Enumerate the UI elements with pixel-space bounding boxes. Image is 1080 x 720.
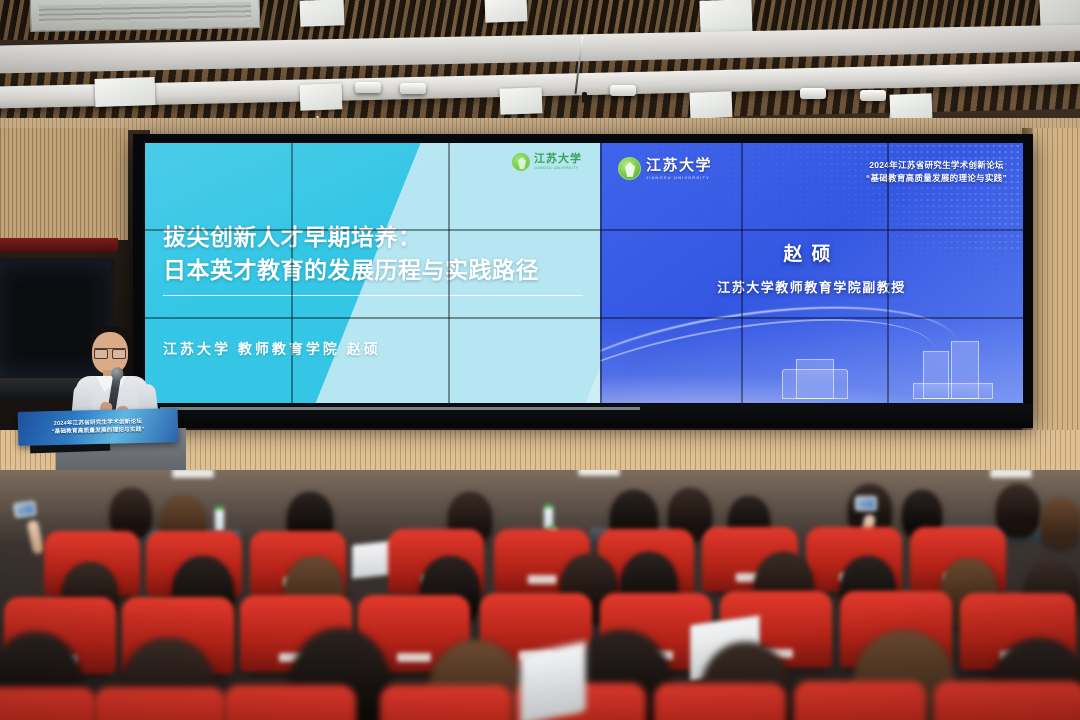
video-wall[interactable]: 江苏大学 JIANGSU UNIVERSITY 拔尖创新人才早期培养： 日本英才… xyxy=(145,143,1023,403)
university-emblem-icon xyxy=(618,157,641,180)
ceiling-light-panel xyxy=(690,91,733,118)
slide-speaker-panel: 江苏大学 JIANGSU UNIVERSITY 2024年江苏省研究生学术创新论… xyxy=(600,143,1023,403)
smartphone xyxy=(13,501,37,519)
auditorium-seat xyxy=(660,688,780,720)
ceiling-spotlight xyxy=(355,82,381,93)
auditorium-seat xyxy=(0,692,90,720)
auditorium-seat xyxy=(230,690,350,720)
hanging-microphone xyxy=(582,92,587,103)
ceiling-light-panel xyxy=(890,93,933,120)
ceiling-light-panel xyxy=(300,83,343,110)
auditorium-seat xyxy=(940,686,1080,720)
seat-number-tag xyxy=(397,653,431,662)
video-wall-bezel-v xyxy=(741,143,743,403)
podium-banner: 2024年江苏省研究生学术创新论坛 “基础教育高质量发展的理论与实践” xyxy=(18,408,179,446)
raised-arm xyxy=(27,519,45,555)
skyline-base xyxy=(913,383,993,399)
video-wall-bezel-v xyxy=(600,143,602,403)
slide-title-line2: 日本英才教育的发展历程与实践路径 xyxy=(163,254,539,287)
speaker-role: 江苏大学教师教育学院副教授 xyxy=(600,277,1023,296)
slide-title-line1: 拔尖创新人才早期培养： xyxy=(163,221,539,254)
audience-head xyxy=(996,484,1040,538)
video-wall-bezel-h xyxy=(145,229,1023,231)
logo-sub-text: JIANGSU UNIVERSITY xyxy=(534,167,582,170)
ceiling-spotlight xyxy=(800,88,826,99)
slide-title-panel: 江苏大学 JIANGSU UNIVERSITY 拔尖创新人才早期培养： 日本英才… xyxy=(145,143,600,403)
video-wall-bezel-v xyxy=(448,143,450,403)
video-wall-bezel-h xyxy=(145,317,1023,319)
slide-skyline-graphic xyxy=(600,317,1023,403)
jiangsu-university-logo-right: 江苏大学 JIANGSU UNIVERSITY xyxy=(618,157,712,180)
ceiling-light-panel xyxy=(300,0,345,27)
wall-outlet-plate xyxy=(990,470,1032,478)
lecture-hall-photo: 江苏大学 JIANGSU UNIVERSITY 拔尖创新人才早期培养： 日本英才… xyxy=(0,0,1080,720)
auditorium-seat xyxy=(100,692,220,720)
slide-title-divider xyxy=(163,295,583,296)
smartphone xyxy=(855,496,877,511)
jiangsu-university-logo-left: 江苏大学 JIANGSU UNIVERSITY xyxy=(512,153,582,171)
wall-outlet-plate xyxy=(578,470,620,476)
university-emblem-icon xyxy=(512,153,530,171)
video-wall-bezel-v xyxy=(291,143,293,403)
logo-sub-text: JIANGSU UNIVERSITY xyxy=(646,176,712,180)
audience-area xyxy=(0,470,1080,720)
seat-number-tag xyxy=(528,575,557,584)
audience-head xyxy=(1040,498,1080,548)
ceiling-spotlight xyxy=(610,85,636,96)
video-wall-bezel-v xyxy=(887,143,889,403)
speaker-name: 赵硕 xyxy=(600,239,1023,266)
water-bottle xyxy=(215,506,224,532)
logo-name-text: 江苏大学 xyxy=(646,158,712,173)
auditorium-seat xyxy=(800,686,920,720)
back-wall-wood-left xyxy=(0,128,128,240)
logo-name-text: 江苏大学 xyxy=(534,154,582,165)
notebook-paper xyxy=(520,641,586,720)
podium-banner-line2: “基础教育高质量发展的理论与实践” xyxy=(52,426,145,437)
video-wall-bezel-highlight xyxy=(160,407,640,410)
wall-outlet-plate xyxy=(172,470,214,478)
ceiling-light-panel xyxy=(699,0,752,35)
ceiling-light-panel xyxy=(485,0,528,23)
auditorium-seat xyxy=(386,690,506,720)
glasses-icon xyxy=(94,348,126,356)
wall-accent-strip xyxy=(0,238,118,252)
ceiling-light-panel xyxy=(500,87,543,114)
ceiling-spotlight xyxy=(400,83,426,94)
slide-affiliation-line: 江苏大学 教师教育学院 赵硕 xyxy=(163,339,381,359)
air-conditioner-unit xyxy=(30,0,261,32)
ceiling-light-panel xyxy=(95,77,156,107)
ceiling-spotlight xyxy=(860,90,886,101)
